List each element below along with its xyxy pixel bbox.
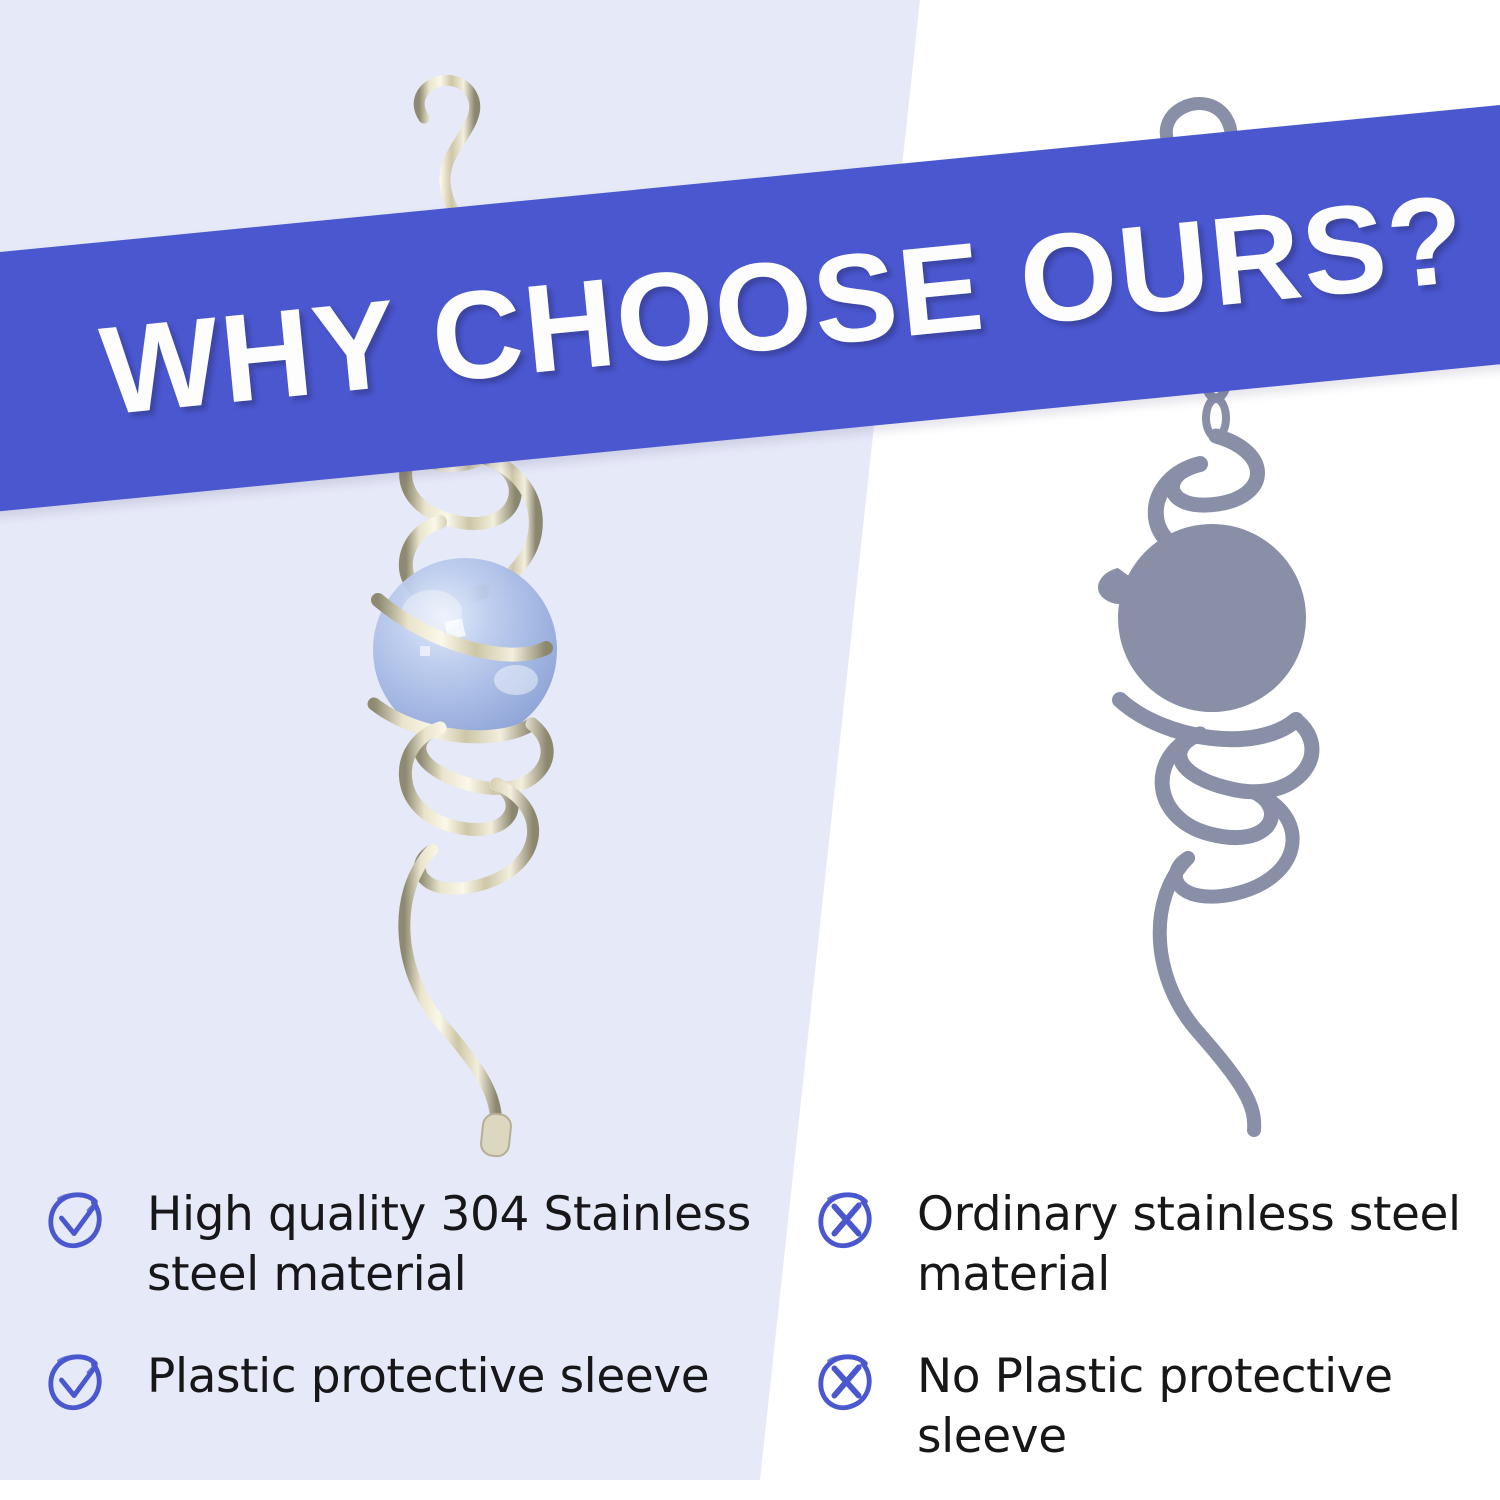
feature-label: Ordinary stainless steel material xyxy=(917,1185,1500,1305)
feature-label: No Plastic protective sleeve xyxy=(917,1347,1500,1467)
check-circle-icon xyxy=(45,1351,107,1413)
cross-circle-icon xyxy=(815,1189,877,1251)
infographic-canvas: WHY CHOOSE OURS? High quality 304 Stainl… xyxy=(0,0,1500,1500)
feature-list-theirs: Ordinary stainless steel material No Pla… xyxy=(815,1185,1500,1468)
feature-item: Plastic protective sleeve xyxy=(45,1347,765,1413)
cross-circle-icon xyxy=(815,1351,877,1413)
feature-item: High quality 304 Stainless steel materia… xyxy=(45,1185,765,1305)
protective-sleeve-cap xyxy=(480,1113,512,1158)
feature-label: Plastic protective sleeve xyxy=(147,1347,709,1407)
feature-label: High quality 304 Stainless steel materia… xyxy=(147,1185,765,1305)
feature-item: No Plastic protective sleeve xyxy=(815,1347,1500,1467)
feature-list-ours: High quality 304 Stainless steel materia… xyxy=(45,1185,765,1413)
feature-item: Ordinary stainless steel material xyxy=(815,1185,1500,1305)
background-bottom-strip xyxy=(0,1480,820,1500)
check-circle-icon xyxy=(45,1189,107,1251)
